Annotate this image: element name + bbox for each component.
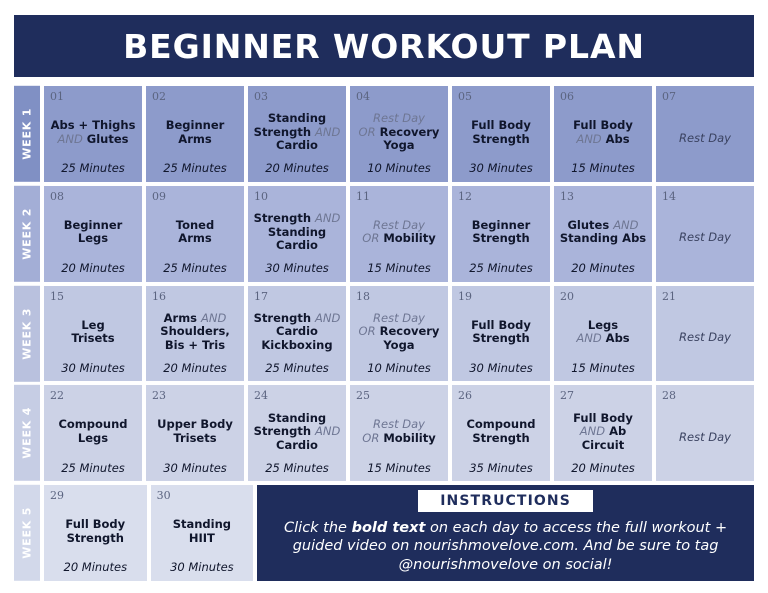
- day-cell-27[interactable]: 27Full BodyAND AbCircuit20 Minutes: [554, 385, 652, 481]
- day-cell-02[interactable]: 02BeginnerArms25 Minutes: [146, 86, 244, 182]
- workout-link[interactable]: Rest DayOR Mobility: [362, 219, 435, 246]
- workout-duration: [660, 275, 750, 276]
- day-number: 15: [48, 291, 138, 302]
- day-body: Rest Day: [660, 102, 750, 175]
- day-body: CompoundStrength: [456, 401, 546, 462]
- day-number: 22: [48, 390, 138, 401]
- week-label-3: WEEK 3: [14, 286, 40, 382]
- day-cell-08[interactable]: 08BeginnerLegs20 Minutes: [44, 186, 142, 282]
- week-label-4: WEEK 4: [14, 385, 40, 481]
- workout-link[interactable]: Rest Day: [679, 431, 731, 445]
- day-body: Glutes ANDStanding Abs: [558, 202, 648, 263]
- day-body: Rest Day: [660, 202, 750, 275]
- workout-duration: 30 Minutes: [252, 263, 342, 276]
- calendar-grid: WEEK 101Abs + Thighs AND Glutes25 Minute…: [14, 86, 754, 581]
- day-body: Full BodyStrength: [456, 102, 546, 163]
- workout-duration: 25 Minutes: [48, 463, 138, 476]
- workout-link[interactable]: StandingStrength ANDCardio: [254, 412, 341, 453]
- day-body: BeginnerStrength: [456, 202, 546, 263]
- workout-link[interactable]: Full BodyAND Abs: [573, 119, 633, 146]
- workout-link[interactable]: Full BodyStrength: [471, 319, 531, 346]
- day-body: Full BodyStrength: [456, 302, 546, 363]
- day-cell-15[interactable]: 15LegTrisets30 Minutes: [44, 286, 142, 382]
- workout-duration: 30 Minutes: [155, 562, 250, 575]
- day-number: 29: [48, 490, 143, 501]
- day-number: 08: [48, 191, 138, 202]
- day-body: StandingHIIT: [155, 501, 250, 562]
- workout-link[interactable]: Full BodyStrength: [471, 119, 531, 146]
- instructions-text: Click the bold text on each day to acces…: [271, 519, 741, 575]
- workout-link[interactable]: BeginnerStrength: [472, 219, 531, 246]
- workout-link[interactable]: Rest Day: [679, 231, 731, 245]
- workout-link[interactable]: Glutes ANDStanding Abs: [560, 219, 646, 246]
- day-number: 04: [354, 91, 444, 102]
- day-body: Rest DayOR Mobility: [354, 401, 444, 462]
- workout-link[interactable]: StandingStrength ANDCardio: [254, 112, 341, 153]
- day-number: 06: [558, 91, 648, 102]
- day-body: CompoundLegs: [48, 401, 138, 462]
- day-body: LegsAND Abs: [558, 302, 648, 363]
- day-body: Full BodyAND AbCircuit: [558, 401, 648, 462]
- day-body: BeginnerArms: [150, 102, 240, 163]
- workout-duration: 25 Minutes: [150, 163, 240, 176]
- week-row: WEEK 208BeginnerLegs20 Minutes09TonedArm…: [14, 186, 754, 282]
- workout-duration: 20 Minutes: [252, 163, 342, 176]
- day-cell-23[interactable]: 23Upper BodyTrisets30 Minutes: [146, 385, 244, 481]
- day-body: Rest Day: [660, 401, 750, 474]
- day-body: Rest DayOR RecoveryYoga: [354, 302, 444, 363]
- day-body: Full BodyAND Abs: [558, 102, 648, 163]
- workout-duration: 20 Minutes: [150, 363, 240, 376]
- day-cell-01[interactable]: 01Abs + Thighs AND Glutes25 Minutes: [44, 86, 142, 182]
- workout-duration: 25 Minutes: [252, 363, 342, 376]
- day-cell-07[interactable]: 07Rest Day: [656, 86, 754, 182]
- day-number: 30: [155, 490, 250, 501]
- day-cell-06[interactable]: 06Full BodyAND Abs15 Minutes: [554, 86, 652, 182]
- day-number: 14: [660, 191, 750, 202]
- day-number: 27: [558, 390, 648, 401]
- day-cell-13[interactable]: 13Glutes ANDStanding Abs20 Minutes: [554, 186, 652, 282]
- day-cell-11[interactable]: 11Rest DayOR Mobility15 Minutes: [350, 186, 448, 282]
- day-cell-09[interactable]: 09TonedArms25 Minutes: [146, 186, 244, 282]
- workout-link[interactable]: Full BodyStrength: [65, 518, 125, 545]
- day-number: 10: [252, 191, 342, 202]
- week-label-5: WEEK 5: [14, 485, 40, 581]
- day-body: Upper BodyTrisets: [150, 401, 240, 462]
- day-number: 02: [150, 91, 240, 102]
- week-row: WEEK 315LegTrisets30 Minutes16Arms ANDSh…: [14, 286, 754, 382]
- workout-link[interactable]: Rest DayOR RecoveryYoga: [359, 112, 440, 153]
- workout-link[interactable]: Strength ANDStandingCardio: [254, 212, 341, 253]
- day-number: 25: [354, 390, 444, 401]
- day-number: 03: [252, 91, 342, 102]
- day-cell-05[interactable]: 05Full BodyStrength30 Minutes: [452, 86, 550, 182]
- day-number: 17: [252, 291, 342, 302]
- day-cell-12[interactable]: 12BeginnerStrength25 Minutes: [452, 186, 550, 282]
- day-number: 05: [456, 91, 546, 102]
- workout-duration: 30 Minutes: [150, 463, 240, 476]
- day-cell-04[interactable]: 04Rest DayOR RecoveryYoga10 Minutes: [350, 86, 448, 182]
- day-number: 21: [660, 291, 750, 302]
- week-row: WEEK 529Full BodyStrength20 Minutes30Sta…: [14, 485, 754, 581]
- workout-duration: 25 Minutes: [252, 463, 342, 476]
- day-number: 07: [660, 91, 750, 102]
- day-number: 12: [456, 191, 546, 202]
- workout-duration: [660, 374, 750, 375]
- day-number: 16: [150, 291, 240, 302]
- day-number: 13: [558, 191, 648, 202]
- day-cell-14[interactable]: 14Rest Day: [656, 186, 754, 282]
- day-cell-24[interactable]: 24StandingStrength ANDCardio25 Minutes: [248, 385, 346, 481]
- day-cell-03[interactable]: 03StandingStrength ANDCardio20 Minutes: [248, 86, 346, 182]
- workout-link[interactable]: Upper BodyTrisets: [157, 418, 233, 445]
- workout-duration: 20 Minutes: [48, 562, 143, 575]
- day-body: Abs + Thighs AND Glutes: [48, 102, 138, 163]
- day-cell-20[interactable]: 20LegsAND Abs15 Minutes: [554, 286, 652, 382]
- workout-link[interactable]: StandingHIIT: [173, 518, 231, 545]
- workout-duration: 25 Minutes: [150, 263, 240, 276]
- day-cell-10[interactable]: 10Strength ANDStandingCardio30 Minutes: [248, 186, 346, 282]
- workout-duration: 15 Minutes: [558, 363, 648, 376]
- workout-duration: 25 Minutes: [48, 163, 138, 176]
- page-title: BEGINNER WORKOUT PLAN: [123, 30, 645, 63]
- workout-duration: 35 Minutes: [456, 463, 546, 476]
- workout-link[interactable]: CompoundLegs: [58, 418, 127, 445]
- day-body: Rest DayOR RecoveryYoga: [354, 102, 444, 163]
- title-banner: BEGINNER WORKOUT PLAN: [14, 15, 754, 77]
- workout-link[interactable]: Strength ANDCardioKickboxing: [254, 312, 341, 353]
- workout-link[interactable]: BeginnerArms: [166, 119, 225, 146]
- workout-duration: 25 Minutes: [456, 263, 546, 276]
- day-cell-26[interactable]: 26CompoundStrength35 Minutes: [452, 385, 550, 481]
- day-number: 01: [48, 91, 138, 102]
- day-number: 26: [456, 390, 546, 401]
- workout-duration: 10 Minutes: [354, 163, 444, 176]
- day-cell-16[interactable]: 16Arms ANDShoulders,Bis + Tris20 Minutes: [146, 286, 244, 382]
- day-number: 24: [252, 390, 342, 401]
- day-body: TonedArms: [150, 202, 240, 263]
- day-cell-18[interactable]: 18Rest DayOR RecoveryYoga10 Minutes: [350, 286, 448, 382]
- instructions-badge: INSTRUCTIONS: [418, 490, 593, 512]
- workout-duration: [660, 175, 750, 176]
- workout-link[interactable]: Abs + Thighs AND Glutes: [48, 119, 138, 146]
- day-cell-21[interactable]: 21Rest Day: [656, 286, 754, 382]
- workout-duration: 30 Minutes: [456, 163, 546, 176]
- day-cell-25[interactable]: 25Rest DayOR Mobility15 Minutes: [350, 385, 448, 481]
- workout-duration: 20 Minutes: [48, 263, 138, 276]
- workout-duration: [660, 474, 750, 475]
- week-label-2: WEEK 2: [14, 186, 40, 282]
- day-number: 20: [558, 291, 648, 302]
- day-body: Strength ANDCardioKickboxing: [252, 302, 342, 363]
- day-cell-22[interactable]: 22CompoundLegs25 Minutes: [44, 385, 142, 481]
- workout-link[interactable]: LegsAND Abs: [576, 319, 629, 346]
- day-cell-30[interactable]: 30StandingHIIT30 Minutes: [151, 485, 254, 581]
- day-cell-19[interactable]: 19Full BodyStrength30 Minutes: [452, 286, 550, 382]
- day-number: 23: [150, 390, 240, 401]
- day-number: 09: [150, 191, 240, 202]
- day-body: StandingStrength ANDCardio: [252, 102, 342, 163]
- workout-link[interactable]: Arms ANDShoulders,Bis + Tris: [160, 312, 229, 353]
- workout-link[interactable]: LegTrisets: [71, 319, 114, 346]
- week-row: WEEK 101Abs + Thighs AND Glutes25 Minute…: [14, 86, 754, 182]
- day-cell-17[interactable]: 17Strength ANDCardioKickboxing25 Minutes: [248, 286, 346, 382]
- day-body: StandingStrength ANDCardio: [252, 401, 342, 462]
- day-body: BeginnerLegs: [48, 202, 138, 263]
- workout-link[interactable]: Rest DayOR RecoveryYoga: [359, 312, 440, 353]
- workout-duration: 20 Minutes: [558, 463, 648, 476]
- workout-duration: 15 Minutes: [354, 463, 444, 476]
- workout-plan-page: BEGINNER WORKOUT PLAN WEEK 101Abs + Thig…: [0, 0, 768, 593]
- day-number: 18: [354, 291, 444, 302]
- day-body: LegTrisets: [48, 302, 138, 363]
- instructions-panel: INSTRUCTIONSClick the bold text on each …: [257, 485, 754, 581]
- workout-link[interactable]: TonedArms: [176, 219, 214, 246]
- workout-link[interactable]: Full BodyAND AbCircuit: [573, 412, 633, 453]
- workout-link[interactable]: Rest Day: [679, 331, 731, 345]
- day-number: 19: [456, 291, 546, 302]
- week-row: WEEK 422CompoundLegs25 Minutes23Upper Bo…: [14, 385, 754, 481]
- workout-duration: 30 Minutes: [48, 363, 138, 376]
- workout-link[interactable]: CompoundStrength: [466, 418, 535, 445]
- workout-duration: 30 Minutes: [456, 363, 546, 376]
- day-number: 11: [354, 191, 444, 202]
- day-cell-28[interactable]: 28Rest Day: [656, 385, 754, 481]
- workout-link[interactable]: BeginnerLegs: [64, 219, 123, 246]
- day-body: Rest DayOR Mobility: [354, 202, 444, 263]
- day-body: Strength ANDStandingCardio: [252, 202, 342, 263]
- week-label-1: WEEK 1: [14, 86, 40, 182]
- day-number: 28: [660, 390, 750, 401]
- workout-duration: 15 Minutes: [558, 163, 648, 176]
- workout-link[interactable]: Rest DayOR Mobility: [362, 418, 435, 445]
- day-body: Rest Day: [660, 302, 750, 375]
- day-cell-29[interactable]: 29Full BodyStrength20 Minutes: [44, 485, 147, 581]
- workout-duration: 15 Minutes: [354, 263, 444, 276]
- workout-duration: 20 Minutes: [558, 263, 648, 276]
- day-body: Arms ANDShoulders,Bis + Tris: [150, 302, 240, 363]
- day-body: Full BodyStrength: [48, 501, 143, 562]
- workout-duration: 10 Minutes: [354, 363, 444, 376]
- workout-link[interactable]: Rest Day: [679, 132, 731, 146]
